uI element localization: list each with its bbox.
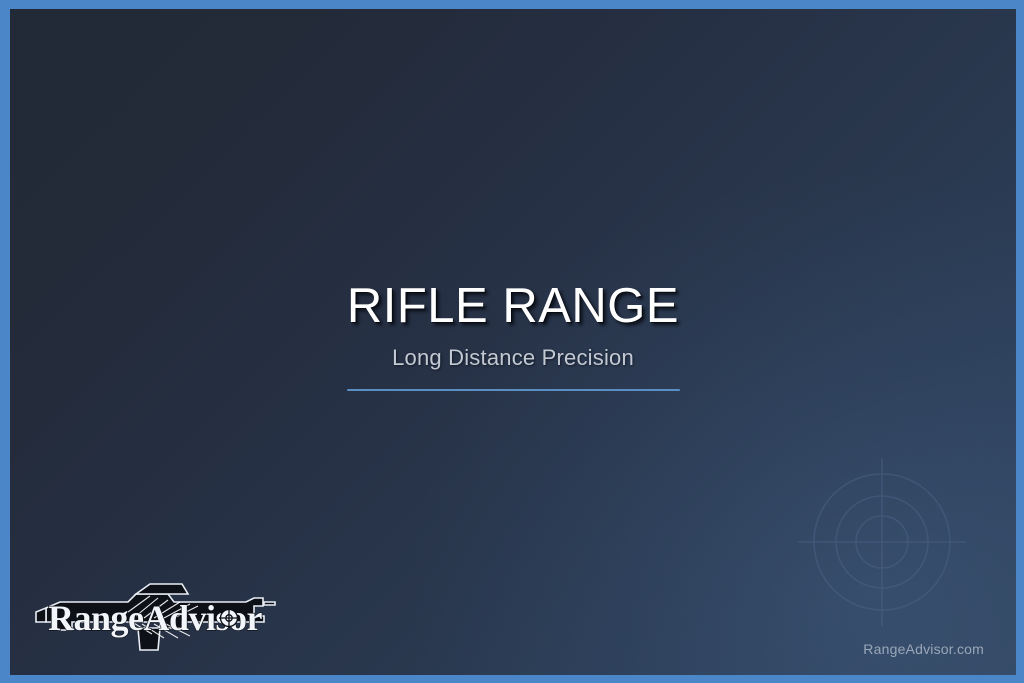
accent-divider [347,389,680,391]
site-watermark: RangeAdvisor.com [863,641,984,657]
presentation-slide: RIFLE RANGE Long Distance Precision [0,0,1024,683]
page-subtitle: Long Distance Precision [10,345,1016,371]
page-title: RIFLE RANGE [10,281,1016,333]
crosshair-target-icon [796,456,968,628]
brand-logo: RangeAdvisor [32,572,278,658]
hero-text-block: RIFLE RANGE Long Distance Precision [10,281,1016,391]
background-glow [416,175,1016,675]
slide-canvas: RIFLE RANGE Long Distance Precision [10,9,1016,675]
